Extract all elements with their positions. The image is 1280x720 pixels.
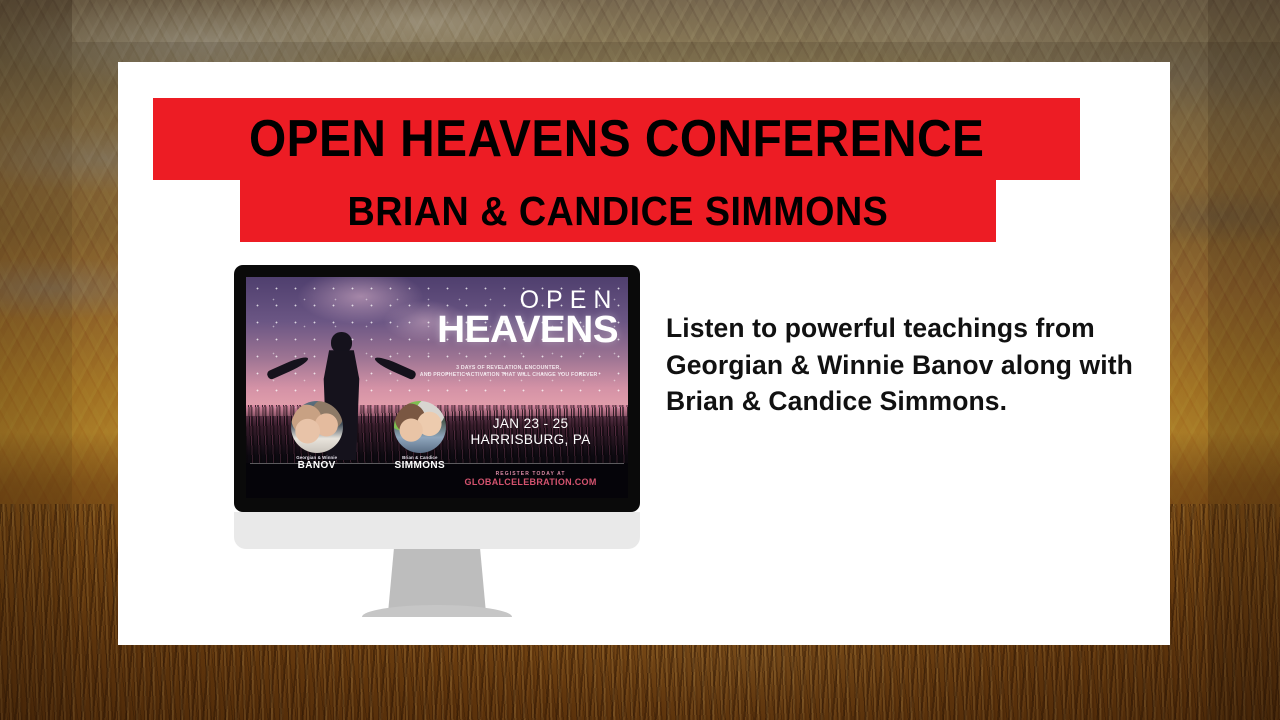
poster-event-date: JAN 23 - 25	[445, 416, 617, 432]
speaker-name-banov: BANOV	[273, 460, 361, 471]
conference-poster: OPEN HEAVENS 3 DAYS OF REVELATION, ENCOU…	[246, 277, 628, 498]
monitor-bezel: OPEN HEAVENS 3 DAYS OF REVELATION, ENCOU…	[234, 265, 640, 512]
poster-speaker-banov: Georgian & Winnie BANOV	[273, 401, 361, 471]
title-banner-main-text: OPEN HEAVENS CONFERENCE	[249, 109, 984, 169]
speaker-name-simmons: SIMMONS	[376, 460, 464, 471]
poster-speaker-simmons: Brian & Candice SIMMONS	[376, 401, 464, 471]
slide-body-copy: Listen to powerful teachings from Georgi…	[666, 310, 1134, 420]
monitor-screen: OPEN HEAVENS 3 DAYS OF REVELATION, ENCOU…	[246, 277, 628, 498]
title-banner-sub: BRIAN & CANDICE SIMMONS	[240, 180, 996, 242]
poster-register-url: GLOBALCELEBRATION.COM	[445, 477, 617, 488]
poster-registration: REGISTER TODAY AT GLOBALCELEBRATION.COM	[445, 471, 617, 489]
title-banner-main: OPEN HEAVENS CONFERENCE	[153, 98, 1080, 180]
poster-logo: OPEN HEAVENS	[429, 288, 618, 349]
poster-event-location: HARRISBURG, PA	[445, 432, 617, 448]
monitor-stand-base	[362, 605, 512, 617]
poster-tagline-line-2: AND PROPHETIC ACTIVATION THAT WILL CHANG…	[399, 372, 619, 379]
monitor-mockup: OPEN HEAVENS 3 DAYS OF REVELATION, ENCOU…	[234, 265, 640, 660]
speaker-photo-simmons	[394, 401, 446, 453]
poster-event-details: JAN 23 - 25 HARRISBURG, PA	[445, 416, 617, 448]
title-banner-sub-text: BRIAN & CANDICE SIMMONS	[348, 188, 889, 235]
figure-head	[331, 332, 351, 353]
poster-tagline: 3 DAYS OF REVELATION, ENCOUNTER, AND PRO…	[399, 365, 619, 378]
speaker-photo-banov	[291, 401, 343, 453]
monitor-stand-neck	[388, 549, 486, 613]
poster-logo-line-heavens: HEAVENS	[426, 311, 619, 349]
monitor-chin	[234, 512, 640, 549]
slide-card: OPEN HEAVENS CONFERENCE BRIAN & CANDICE …	[118, 62, 1170, 645]
